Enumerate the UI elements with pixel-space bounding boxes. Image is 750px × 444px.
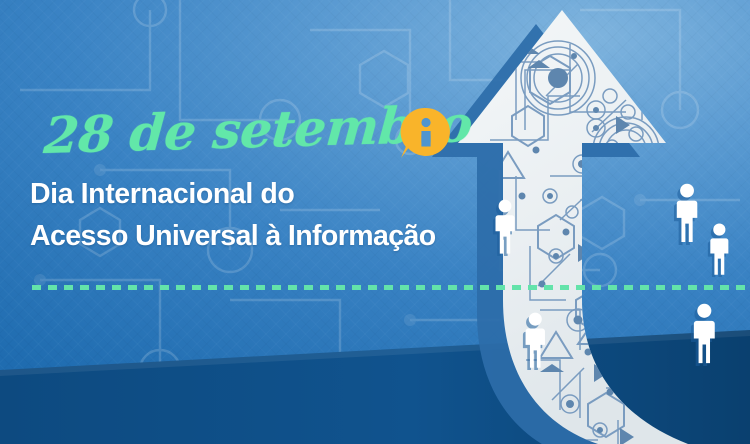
person-figure-1 bbox=[492, 198, 518, 256]
person-figure-4 bbox=[522, 311, 549, 370]
dashed-divider bbox=[32, 285, 750, 290]
date-line: 28 de setembro bbox=[30, 112, 450, 170]
person-figure-3 bbox=[707, 222, 732, 277]
headline-line-1: Dia Internacional do bbox=[30, 176, 450, 212]
headline-line-2: Acesso Universal à Informação bbox=[30, 218, 450, 254]
banner-copy: 28 de setembro Dia Internacional do Aces… bbox=[30, 112, 450, 254]
circuit-arrow-graphic bbox=[430, 0, 750, 444]
awareness-day-banner: 28 de setembro Dia Internacional do Aces… bbox=[0, 0, 750, 444]
info-speech-bubble-icon bbox=[398, 106, 454, 164]
person-figure-5 bbox=[690, 302, 719, 366]
person-figure-2 bbox=[673, 182, 701, 245]
